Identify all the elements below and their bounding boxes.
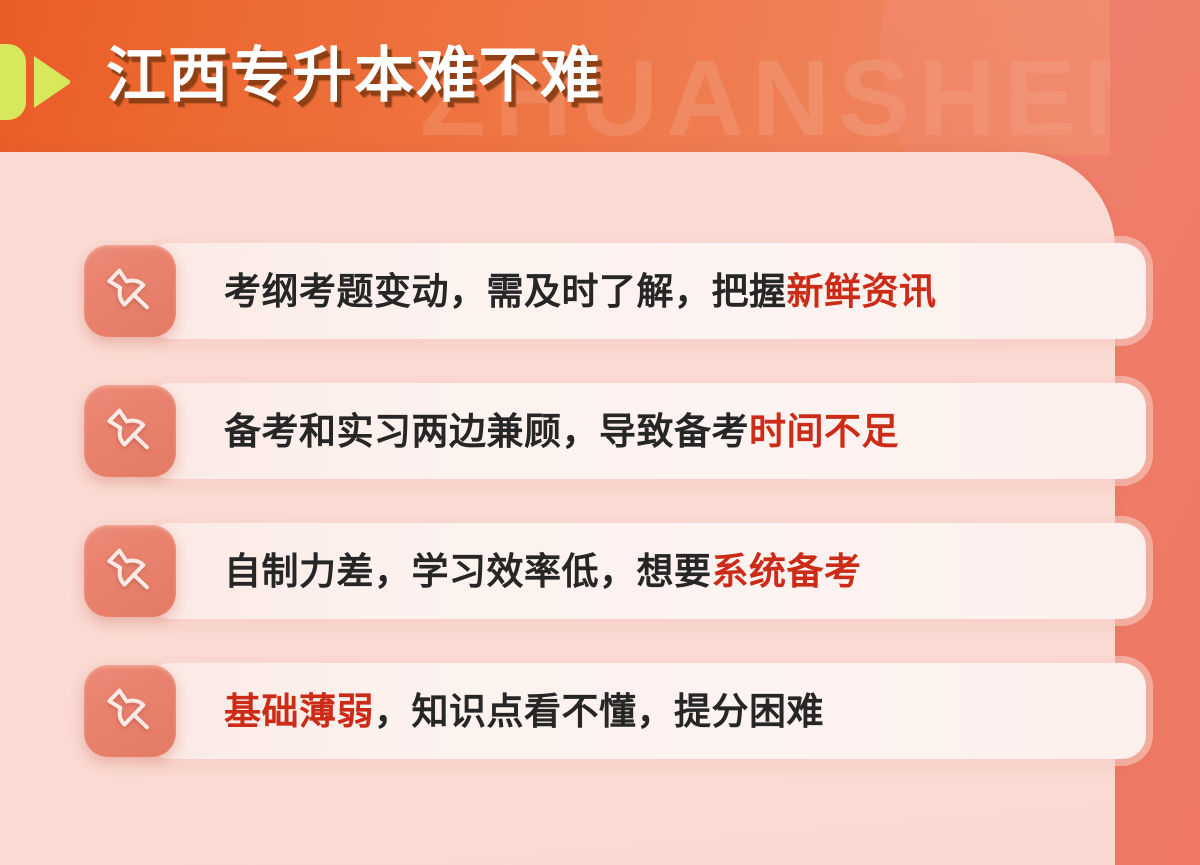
list-item-card[interactable]: 备考和实习两边兼顾，导致备考时间不足 <box>146 383 1146 479</box>
list-item-text: 自制力差，学习效率低，想要系统备考 <box>224 553 862 590</box>
pushpin-icon <box>84 385 176 477</box>
list-item-text: 备考和实习两边兼顾，导致备考时间不足 <box>224 413 899 450</box>
list-item-text: 考纲考题变动，需及时了解，把握新鲜资讯 <box>224 273 937 310</box>
list-item-text-highlight: 时间不足 <box>749 411 899 452</box>
poster-canvas: ZHUANSHENGBEN 江西专升本难不难 考纲考题变动，需及时了解，把握新鲜… <box>0 0 1200 865</box>
pushpin-icon <box>84 665 176 757</box>
list-item[interactable]: 考纲考题变动，需及时了解，把握新鲜资讯 <box>84 243 1146 339</box>
list-item-text-plain-1: 自制力差，学习效率低，想要 <box>224 551 712 592</box>
pushpin-icon <box>84 525 176 617</box>
list-item-text-highlight: 系统备考 <box>712 551 862 592</box>
list-item-card[interactable]: 考纲考题变动，需及时了解，把握新鲜资讯 <box>146 243 1146 339</box>
pushpin-icon <box>84 245 176 337</box>
list-item-text-plain-1: 考纲考题变动，需及时了解，把握 <box>224 271 787 312</box>
list-item-text-highlight: 新鲜资讯 <box>787 271 937 312</box>
list-item-text-highlight: 基础薄弱 <box>224 691 374 732</box>
list-item[interactable]: 备考和实习两边兼顾，导致备考时间不足 <box>84 383 1146 479</box>
play-icon <box>0 36 70 128</box>
list-item[interactable]: 基础薄弱，知识点看不懂，提分困难 <box>84 663 1146 759</box>
list-item-text: 基础薄弱，知识点看不懂，提分困难 <box>224 693 824 730</box>
list-item-text-plain-1: 备考和实习两边兼顾，导致备考 <box>224 411 749 452</box>
list-item-card[interactable]: 自制力差，学习效率低，想要系统备考 <box>146 523 1146 619</box>
page-title: 江西专升本难不难 <box>106 44 602 107</box>
list-item[interactable]: 自制力差，学习效率低，想要系统备考 <box>84 523 1146 619</box>
list-item-card[interactable]: 基础薄弱，知识点看不懂，提分困难 <box>146 663 1146 759</box>
list-item-text-plain-2: ，知识点看不懂，提分困难 <box>374 691 824 732</box>
